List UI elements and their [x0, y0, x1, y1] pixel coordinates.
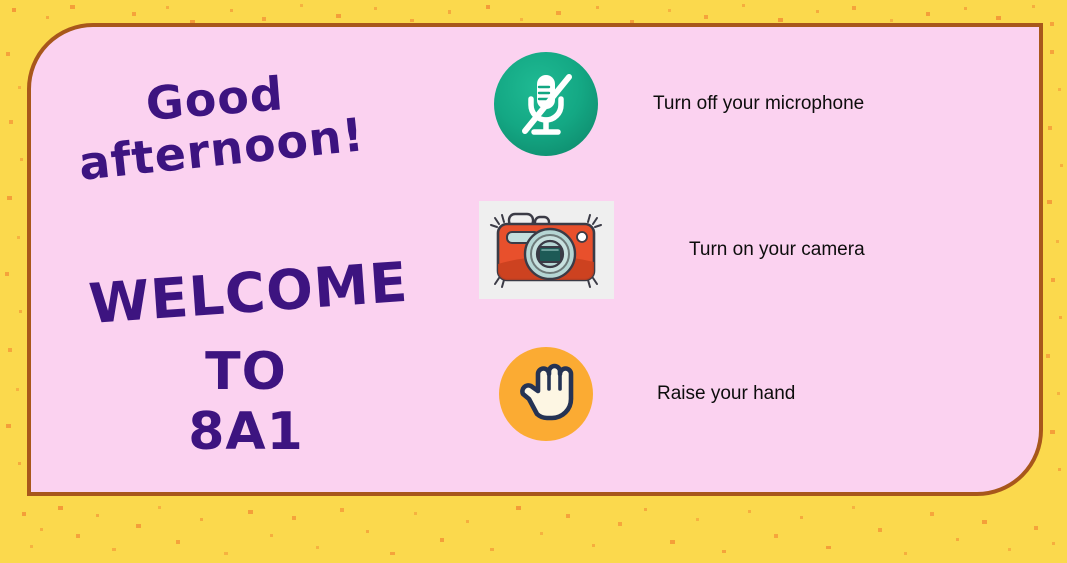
instruction-label-hand: Raise your hand	[657, 383, 795, 405]
microphone-muted-icon	[493, 51, 599, 157]
camera-icon-tile	[479, 201, 614, 299]
greeting-line-welcome: WELCOME	[87, 250, 410, 336]
hand-icon-slot	[471, 346, 621, 442]
microphone-icon-slot	[471, 51, 621, 157]
instruction-label-camera: Turn on your camera	[689, 239, 865, 261]
slide-canvas: Good afternoon! WELCOME TO 8A1	[0, 0, 1067, 563]
content-card: Good afternoon! WELCOME TO 8A1	[27, 23, 1043, 496]
instruction-label-microphone: Turn off your microphone	[653, 93, 864, 115]
greeting-line-class: 8A1	[31, 402, 461, 462]
instruction-list: Turn off your microphone	[471, 27, 1043, 492]
instruction-row-camera: Turn on your camera	[471, 195, 1043, 305]
greeting-line-to: TO	[31, 342, 461, 402]
camera-icon-slot	[471, 201, 621, 299]
instruction-row-hand: Raise your hand	[471, 339, 1043, 449]
instruction-row-microphone: Turn off your microphone	[471, 49, 1043, 159]
raised-hand-icon	[498, 346, 594, 442]
camera-icon	[485, 206, 607, 294]
